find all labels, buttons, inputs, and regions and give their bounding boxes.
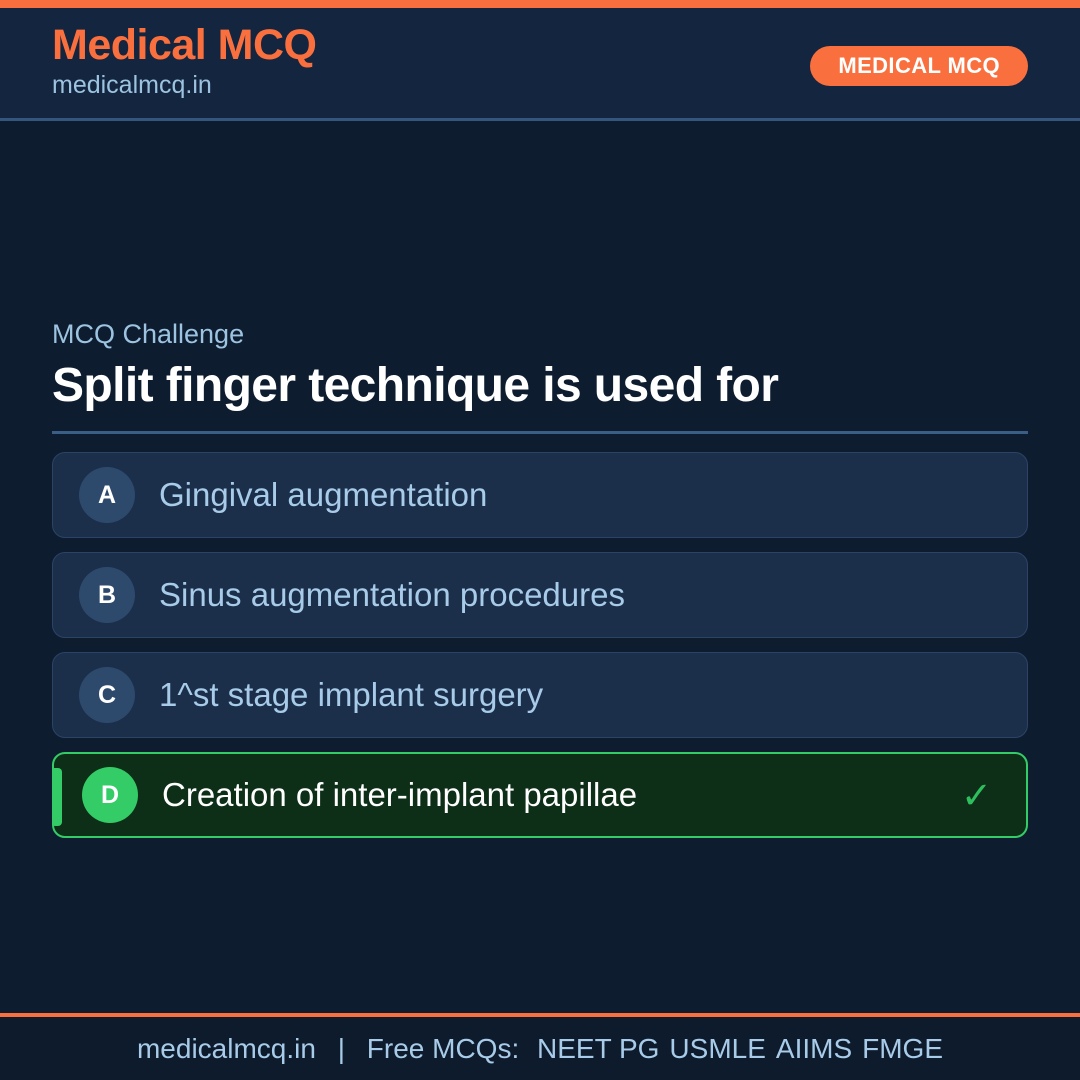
question-eyebrow: MCQ Challenge [52,318,1028,352]
question-block: MCQ Challenge Split finger technique is … [52,318,1028,434]
footer-exam-neet-pg[interactable]: NEET PG [527,1033,659,1064]
brand-block: Medical MCQ medicalmcq.in [52,22,317,100]
option-text: Creation of inter-implant papillae [162,776,637,814]
footer-exam-usmle[interactable]: USMLE [659,1033,765,1064]
option-card-d[interactable]: DCreation of inter-implant papillae✓ [52,752,1028,838]
header-badge[interactable]: MEDICAL MCQ [810,46,1028,86]
site-header: Medical MCQ medicalmcq.in MEDICAL MCQ [0,8,1080,120]
footer-exam-aiims[interactable]: AIIMS [766,1033,852,1064]
brand-url: medicalmcq.in [52,70,317,100]
header-divider [0,118,1080,121]
footer-exam-fmge[interactable]: FMGE [852,1033,943,1064]
option-letter-badge: C [79,667,135,723]
brand-title: Medical MCQ [52,22,317,68]
option-card-c[interactable]: C1^st stage implant surgery [52,652,1028,738]
question-divider [52,431,1028,434]
site-footer: medicalmcq.in | Free MCQs: NEET PGUSMLEA… [0,1017,1080,1080]
option-card-b[interactable]: BSinus augmentation procedures [52,552,1028,638]
option-text: Gingival augmentation [159,476,487,514]
option-letter-badge: B [79,567,135,623]
option-text: Sinus augmentation procedures [159,576,625,614]
option-accent-bar [54,768,62,826]
footer-site-link[interactable]: medicalmcq.in [137,1033,316,1064]
footer-exams: NEET PGUSMLEAIIMSFMGE [527,1033,943,1064]
option-letter-badge: A [79,467,135,523]
footer-separator: | [324,1033,359,1064]
footer-exams-label: Free MCQs: [367,1033,519,1064]
options-list: AGingival augmentationBSinus augmentatio… [52,452,1028,852]
question-title: Split finger technique is used for [52,358,1028,413]
option-letter-badge: D [82,767,138,823]
check-icon: ✓ [961,777,992,814]
top-accent-bar [0,0,1080,8]
option-text: 1^st stage implant surgery [159,676,543,714]
option-card-a[interactable]: AGingival augmentation [52,452,1028,538]
header-badge-label: MEDICAL MCQ [838,53,1000,79]
footer-text: medicalmcq.in | Free MCQs: NEET PGUSMLEA… [137,1033,943,1065]
